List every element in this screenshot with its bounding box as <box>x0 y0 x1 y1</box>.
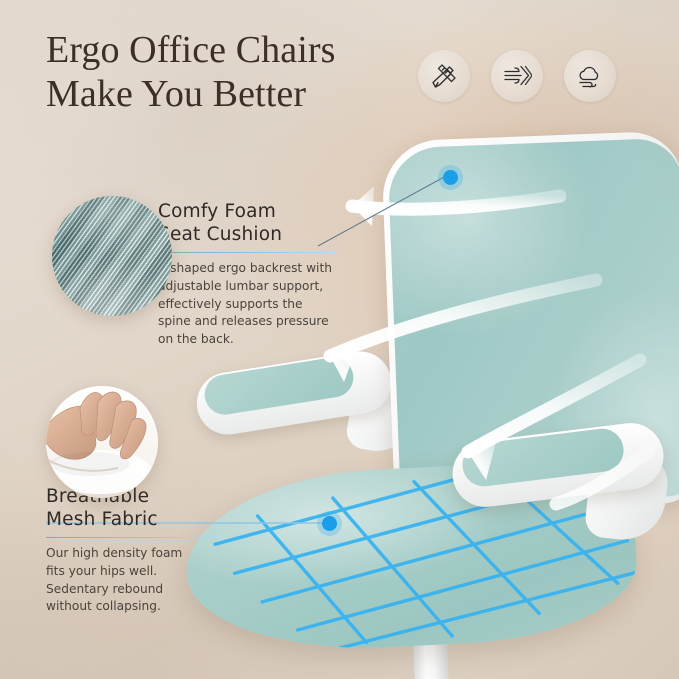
callout-2-title-line-2: Mesh Fabric <box>46 509 226 532</box>
callout-1-title-line-2: Seat Cushion <box>158 224 338 247</box>
callout-2-divider <box>46 537 226 539</box>
callout-2-body-line-3: Sedentary rebound <box>46 581 226 599</box>
foam-hand-press-closeup <box>46 386 158 498</box>
infographic-canvas: Ergo Office Chairs Make You Better <box>0 0 679 679</box>
callout-1-body-line-4: spine and releases pressure <box>158 313 338 331</box>
callout-2-body-line-1: Our high density foam <box>46 545 226 563</box>
mesh-fabric-shading <box>52 196 172 316</box>
callout-2-body-line-2: fits your hips well. <box>46 563 226 581</box>
callout-1-title: Comfy Foam Seat Cushion <box>158 201 338 247</box>
callout-1-divider <box>158 252 338 254</box>
callout-comfy-foam-seat-cushion: Comfy Foam Seat Cushion S-shaped ergo ba… <box>158 201 338 349</box>
mesh-fabric-closeup <box>52 196 172 316</box>
backrest-marker[interactable] <box>443 170 458 185</box>
callout-1-body-line-1: S-shaped ergo backrest with <box>158 260 338 278</box>
seat-marker[interactable] <box>322 516 337 531</box>
callout-1-body-line-2: adjustable lumbar support, <box>158 278 338 296</box>
callout-1-title-line-1: Comfy Foam <box>158 201 338 224</box>
callout-2-body-line-4: without collapsing. <box>46 598 226 616</box>
callout-breathable-mesh-fabric: Breathable Mesh Fabric Our high density … <box>46 486 226 616</box>
callout-1-body-line-3: effectively supports the <box>158 296 338 314</box>
callout-1-body-line-5: on the back. <box>158 331 338 349</box>
callout-2-body: Our high density foam fits your hips wel… <box>46 545 226 616</box>
hand-on-foam-illustration <box>46 386 158 498</box>
callout-1-body: S-shaped ergo backrest with adjustable l… <box>158 260 338 348</box>
